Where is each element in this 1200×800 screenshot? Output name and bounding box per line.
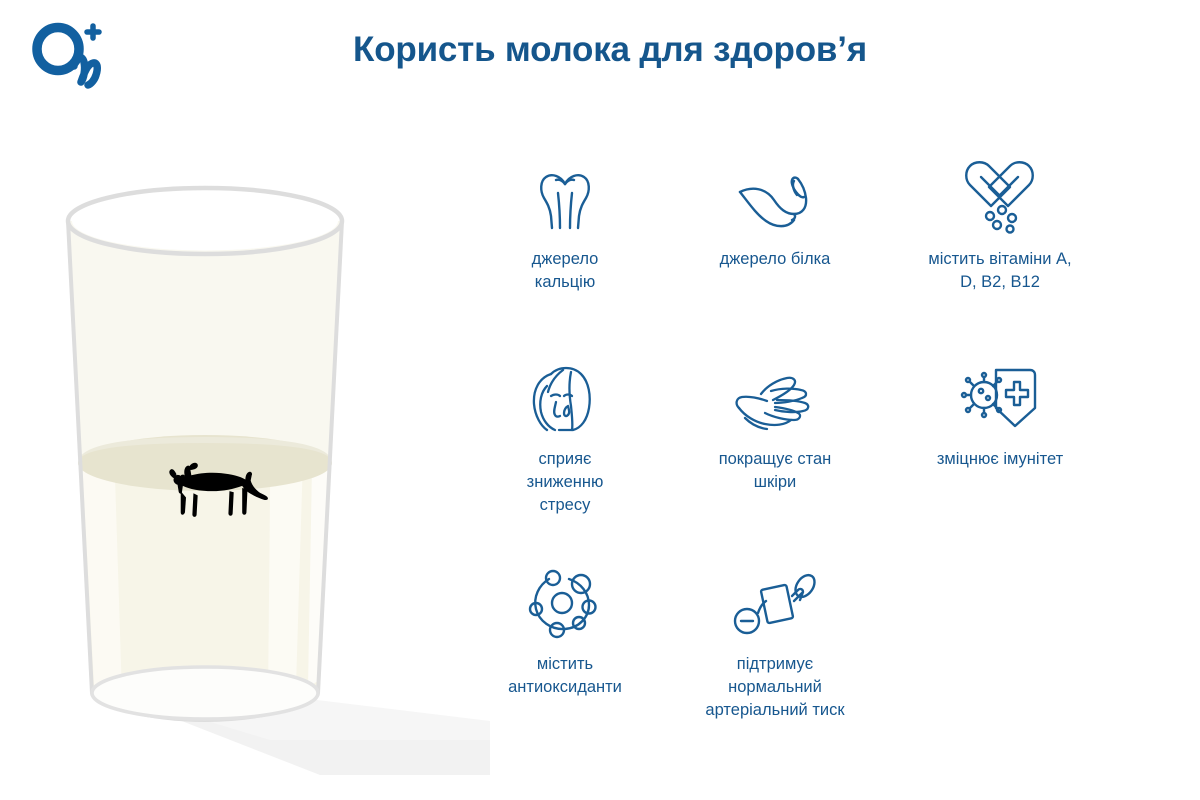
benefit-item-skin: покращує стан шкіри — [670, 362, 880, 494]
glass-base — [92, 667, 318, 719]
benefit-label: містить антиоксиданти — [508, 653, 622, 699]
benefit-label: підтримує нормальний артеріальний тиск — [705, 653, 844, 721]
glass-rim-opening — [72, 192, 338, 251]
tooth-icon — [534, 162, 596, 234]
benefit-item-stress: сприяє зниженню стресу — [460, 362, 670, 516]
page-title: Користь молока для здоров’я — [290, 30, 930, 70]
benefit-item-protein: джерело білка — [670, 162, 880, 271]
logo-svg — [26, 18, 136, 90]
benefit-item-vitamins: містить вітаміни A, D, B2, B12 — [880, 162, 1120, 294]
benefit-item-immunity: зміцнює імунітет — [880, 362, 1120, 471]
stressed-face-icon — [525, 362, 605, 434]
on-plus-logo — [26, 18, 136, 90]
blood-pressure-monitor-icon — [732, 567, 818, 639]
benefit-label: покращує стан шкіри — [719, 448, 832, 494]
benefit-label: джерело кальцію — [532, 248, 599, 294]
benefit-label: містить вітаміни A, D, B2, B12 — [928, 248, 1071, 294]
flexed-bicep-icon — [734, 162, 816, 234]
glass-svg — [20, 175, 490, 775]
glass-of-milk-illustration — [20, 175, 490, 775]
molecule-antioxidant-icon — [527, 567, 603, 639]
shield-virus-icon — [958, 362, 1042, 434]
benefit-label: зміцнює імунітет — [937, 448, 1063, 471]
benefit-label: сприяє зниженню стресу — [527, 448, 604, 516]
capsule-pills-icon — [958, 162, 1042, 234]
benefit-item-antioxidants: містить антиоксиданти — [460, 567, 670, 699]
infographic-page: Користь молока для здоров’я — [0, 0, 1200, 800]
benefit-label: джерело білка — [720, 248, 831, 271]
benefit-item-calcium: джерело кальцію — [460, 162, 670, 294]
benefit-item-blood-pressure: підтримує нормальний артеріальний тиск — [670, 567, 880, 721]
hand-skin-icon — [731, 362, 819, 434]
benefits-grid: джерело кальцію джерело білка — [460, 162, 1160, 762]
